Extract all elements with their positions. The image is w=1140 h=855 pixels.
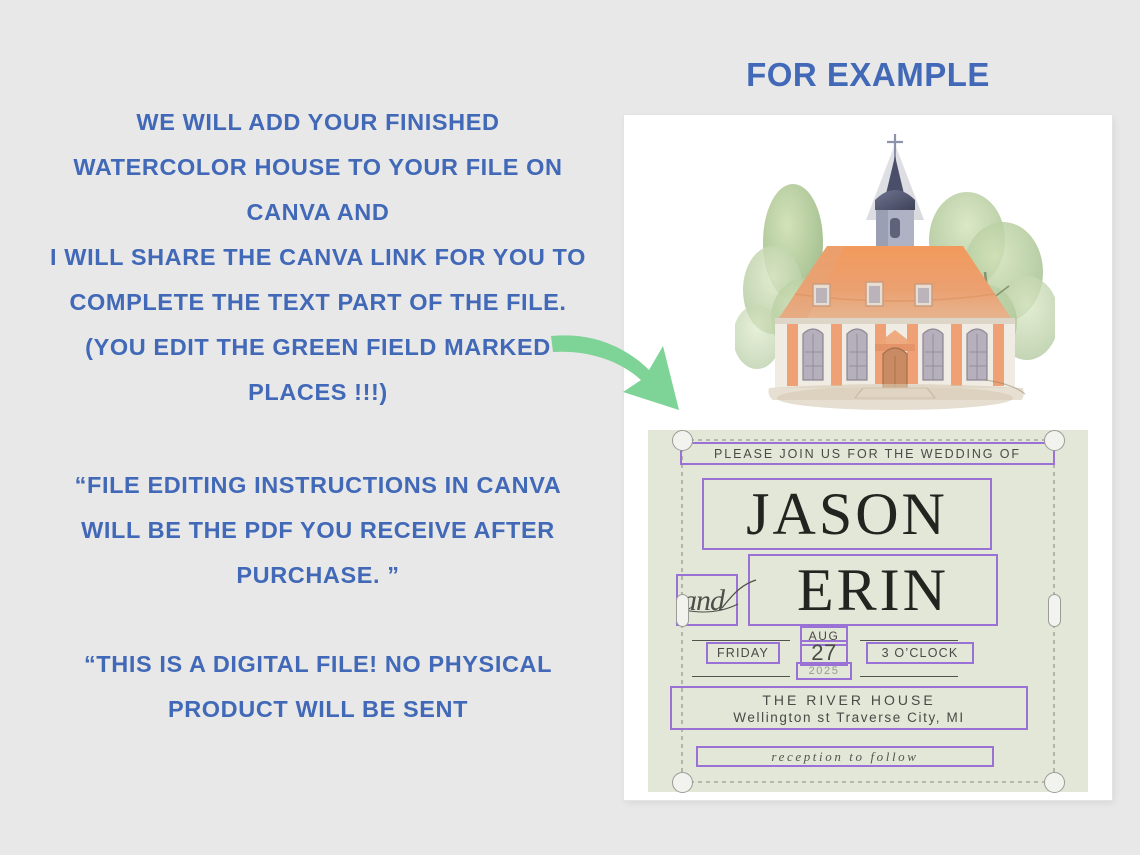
resize-handle-top-right[interactable] — [1044, 430, 1065, 451]
instructions-block-2: “FILE EDITING INSTRUCTIONS IN CANVA WILL… — [18, 463, 618, 598]
instruction-line: PRODUCT WILL BE SENT — [18, 687, 618, 732]
instruction-line: WE WILL ADD YOUR FINISHED — [18, 100, 618, 145]
resize-handle-bottom-right[interactable] — [1044, 772, 1065, 793]
for-example-heading: FOR EXAMPLE — [623, 56, 1113, 94]
date-rule-left-top — [692, 640, 790, 641]
invitation-content: PLEASE JOIN US FOR THE WEDDING OF JASON … — [648, 430, 1088, 792]
spacer — [18, 415, 618, 463]
instruction-line: I WILL SHARE THE CANVA LINK FOR YOU TO — [18, 235, 618, 280]
field-name-second[interactable]: ERIN — [748, 554, 998, 626]
instruction-line: “FILE EDITING INSTRUCTIONS IN CANVA — [18, 463, 618, 508]
venue-name: THE RIVER HOUSE — [762, 692, 935, 708]
instructions-column: WE WILL ADD YOUR FINISHED WATERCOLOR HOU… — [18, 100, 618, 732]
date-rule-right-top — [860, 640, 958, 641]
instruction-line: “THIS IS A DIGITAL FILE! NO PHYSICAL — [18, 642, 618, 687]
instruction-line: WILL BE THE PDF YOU RECEIVE AFTER — [18, 508, 618, 553]
field-reception[interactable]: reception to follow — [696, 746, 994, 767]
instruction-line: WATERCOLOR HOUSE TO YOUR FILE ON — [18, 145, 618, 190]
field-venue[interactable]: THE RIVER HOUSE Wellington st Traverse C… — [670, 686, 1028, 730]
side-resize-handle-left[interactable] — [676, 594, 689, 627]
field-day[interactable]: FRIDAY — [706, 642, 780, 664]
instruction-line: COMPLETE THE TEXT PART OF THE FILE. — [18, 280, 618, 325]
resize-handle-top-left[interactable] — [672, 430, 693, 451]
field-join-line[interactable]: PLEASE JOIN US FOR THE WEDDING OF — [680, 442, 1055, 465]
instruction-line: PLACES !!!) — [18, 370, 618, 415]
field-name-first[interactable]: JASON — [702, 478, 992, 550]
instructions-block-1: WE WILL ADD YOUR FINISHED WATERCOLOR HOU… — [18, 100, 618, 415]
watercolor-house-illustration — [735, 122, 1055, 418]
screenshot-stage: WE WILL ADD YOUR FINISHED WATERCOLOR HOU… — [0, 0, 1140, 855]
date-rule-left-bottom — [692, 676, 790, 677]
instruction-line: (YOU EDIT THE GREEN FIELD MARKED — [18, 325, 618, 370]
field-time[interactable]: 3 O’CLOCK — [866, 642, 974, 664]
field-year[interactable]: 2025 — [796, 662, 852, 680]
venue-address: Wellington st Traverse City, MI — [733, 710, 964, 725]
side-resize-handle-right[interactable] — [1048, 594, 1061, 627]
resize-handle-bottom-left[interactable] — [672, 772, 693, 793]
invitation-selection-group[interactable]: PLEASE JOIN US FOR THE WEDDING OF JASON … — [648, 430, 1088, 792]
instructions-block-3: “THIS IS A DIGITAL FILE! NO PHYSICAL PRO… — [18, 642, 618, 732]
spacer — [18, 598, 618, 642]
instruction-line: PURCHASE. ” — [18, 553, 618, 598]
instruction-line: CANVA AND — [18, 190, 618, 235]
date-rule-right-bottom — [860, 676, 958, 677]
